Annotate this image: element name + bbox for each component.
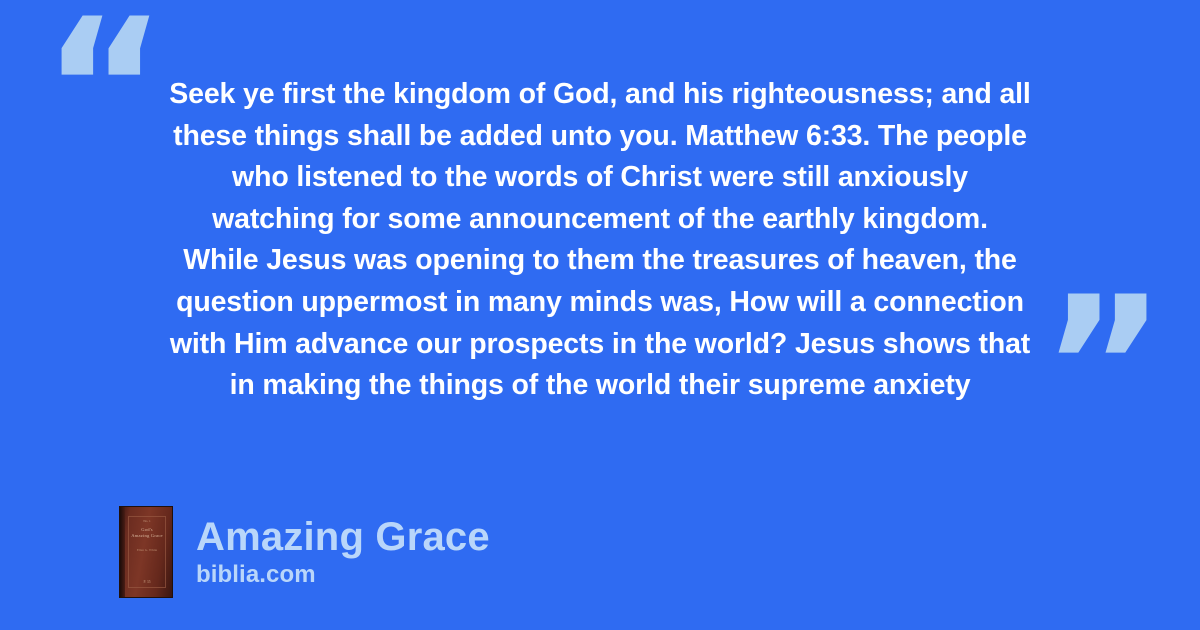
book-cover-subtitle: Ellen G. White	[128, 548, 166, 553]
quote-card: “ ” Seek ye first the kingdom of God, an…	[0, 0, 1200, 630]
quote-line: who listened to the words of Christ were…	[112, 157, 1088, 199]
footer-branding: No. 1 God's Amazing Grace Ellen G. White…	[119, 506, 490, 598]
book-cover-bottom-line: P. 35	[128, 580, 166, 584]
brand-url[interactable]: biblia.com	[196, 561, 490, 589]
book-cover-top-line: No. 1	[128, 519, 166, 523]
book-cover-icon: No. 1 God's Amazing Grace Ellen G. White…	[119, 506, 173, 598]
quote-line: in making the things of the world their …	[112, 365, 1088, 407]
brand-text-block: Amazing Grace biblia.com	[196, 515, 490, 589]
quote-line: While Jesus was opening to them the trea…	[112, 240, 1088, 282]
book-spine	[120, 507, 125, 597]
quote-line: question uppermost in many minds was, Ho…	[112, 282, 1088, 324]
brand-title: Amazing Grace	[196, 515, 490, 559]
quote-text-block: Seek ye first the kingdom of God, and hi…	[112, 74, 1088, 407]
quote-line: with Him advance our prospects in the wo…	[112, 324, 1088, 366]
quote-line: watching for some announcement of the ea…	[112, 199, 1088, 241]
book-cover-title-line-2: Amazing Grace	[128, 533, 166, 539]
quote-line: these things shall be added unto you. Ma…	[112, 116, 1088, 158]
book-cover-title: God's Amazing Grace	[128, 527, 166, 540]
quote-line: Seek ye first the kingdom of God, and hi…	[112, 74, 1088, 116]
